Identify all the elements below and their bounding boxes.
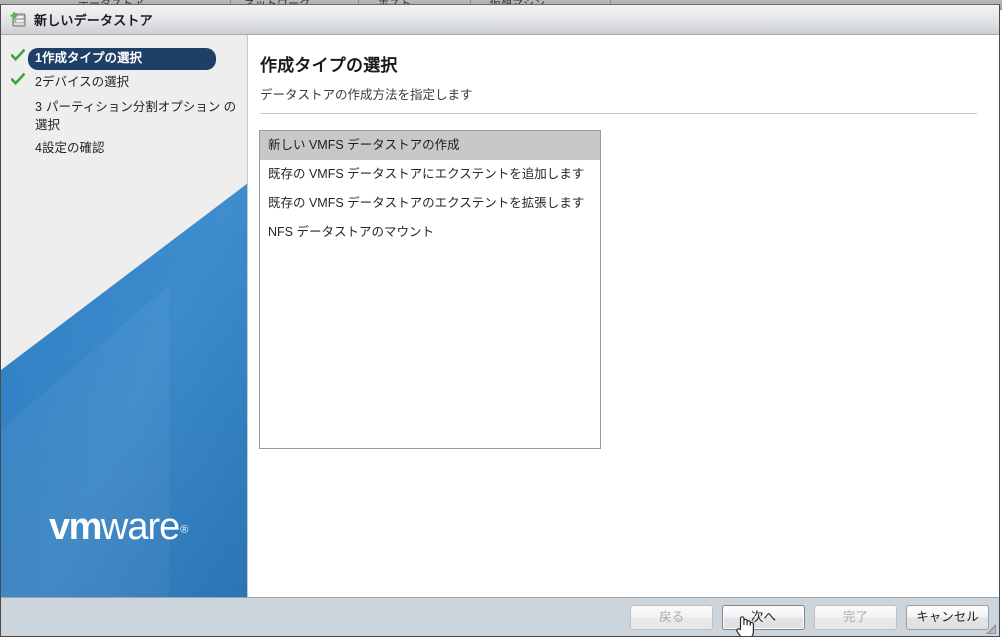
vmware-logo-regular: ware [101, 506, 179, 548]
wizard-step-list: 1作成タイプの選択 2デバイスの選択 3パーティション分割オプション の選択 [1, 35, 248, 162]
wizard-content: 作成タイプの選択 データストアの作成方法を指定します 新しい VMFS データス… [249, 35, 999, 597]
list-item-mount-nfs[interactable]: NFS データストアのマウント [260, 218, 600, 247]
list-item-expand-extent[interactable]: 既存の VMFS データストアのエクステントを拡張します [260, 189, 600, 218]
sidebar-step-1-label: 1作成タイプの選択 [28, 48, 216, 70]
list-item-add-extent[interactable]: 既存の VMFS データストアにエクステントを追加します [260, 160, 600, 189]
content-header: 作成タイプの選択 データストアの作成方法を指定します [249, 35, 999, 103]
vmware-logo-bold: vm [49, 506, 101, 548]
header-divider [260, 113, 977, 114]
dialog-title: 新しいデータストア [34, 10, 153, 29]
wizard-sidebar: 1作成タイプの選択 2デバイスの選択 3パーティション分割オプション の選択 [1, 35, 248, 597]
new-datastore-icon [10, 12, 27, 28]
footer-button-row: 戻る 次へ 完了 キャンセル [630, 605, 989, 630]
creation-type-list[interactable]: 新しい VMFS データストアの作成 既存の VMFS データストアにエクステン… [259, 130, 601, 449]
new-datastore-dialog: 新しいデータストア 1作成タイプの選択 [0, 4, 1000, 637]
next-button[interactable]: 次へ [722, 605, 805, 630]
back-button: 戻る [630, 605, 713, 630]
sidebar-step-4[interactable]: 4設定の確認 [1, 138, 248, 160]
step-no-check-placeholder [11, 96, 28, 97]
sidebar-step-3[interactable]: 3パーティション分割オプション の選択 [1, 96, 248, 134]
dialog-body: 1作成タイプの選択 2デバイスの選択 3パーティション分割オプション の選択 [1, 35, 999, 597]
sidebar-step-4-label: 4設定の確認 [28, 138, 113, 160]
check-icon [11, 48, 28, 67]
page-title: 作成タイプの選択 [260, 51, 977, 76]
list-item-new-vmfs[interactable]: 新しい VMFS データストアの作成 [260, 131, 600, 160]
sidebar-step-1[interactable]: 1作成タイプの選択 [1, 48, 248, 70]
dialog-footer: 戻る 次へ 完了 キャンセル [1, 597, 999, 636]
sidebar-step-2[interactable]: 2デバイスの選択 [1, 72, 248, 94]
vmware-logo: vmware® [49, 506, 188, 549]
check-icon [11, 72, 28, 91]
registered-trademark-icon: ® [180, 524, 188, 536]
page-subtitle: データストアの作成方法を指定します [260, 84, 977, 103]
dialog-titlebar: 新しいデータストア [1, 5, 999, 35]
cancel-button[interactable]: キャンセル [906, 605, 989, 630]
finish-button: 完了 [814, 605, 897, 630]
step-no-check-placeholder [11, 138, 28, 139]
sidebar-step-3-label: 3パーティション分割オプション の選択 [28, 96, 246, 134]
sidebar-step-2-label: 2デバイスの選択 [28, 72, 138, 94]
